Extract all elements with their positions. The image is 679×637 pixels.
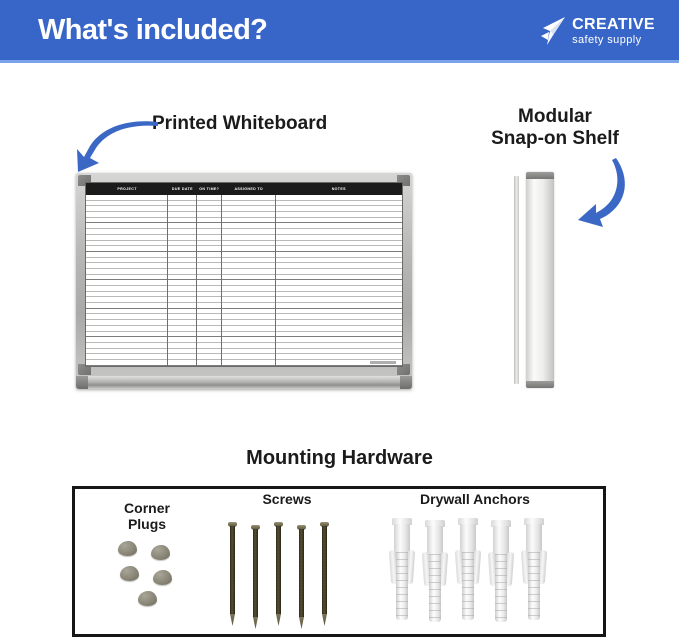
drywall-anchors-group [392, 518, 562, 630]
screw [320, 522, 329, 626]
printed-whiteboard: PROJECTDUE DATEON TIME?ASSIGNED TONOTES [76, 173, 412, 389]
screw-shaft [230, 526, 235, 614]
hardware-section-title: Mounting Hardware [0, 447, 679, 470]
brand-tagline: safety supply [572, 35, 655, 46]
drywall-anchor [458, 518, 478, 628]
whiteboard-column-header: NOTES [276, 183, 402, 194]
screw [251, 525, 260, 629]
anchor-neck [394, 524, 410, 554]
screw-shaft [322, 526, 327, 614]
anchor-body [528, 552, 540, 620]
shelf-back-rail [514, 176, 519, 384]
whiteboard-grid [86, 195, 402, 366]
anchor-body [495, 554, 507, 622]
corner-plug [151, 545, 170, 560]
screw [274, 522, 283, 626]
screw-tip [253, 617, 258, 629]
screw [297, 525, 306, 629]
screw [228, 522, 237, 626]
whiteboard-column-header: ON TIME? [197, 183, 222, 194]
corner-plug [120, 566, 139, 581]
screw-tip [322, 614, 327, 626]
screw-tip [230, 614, 235, 626]
anchor-body [429, 554, 441, 622]
paper-plane-icon [540, 16, 566, 46]
screw-shaft [276, 526, 281, 614]
corner-plugs-group [118, 541, 182, 607]
whiteboard-column-separator [276, 195, 402, 366]
callout-label-printed-whiteboard: Printed Whiteboard [152, 113, 327, 135]
whiteboard-column-header: PROJECT [86, 183, 168, 194]
brand-wordmark: CREATIVE safety supply [572, 17, 655, 46]
anchor-neck [460, 524, 476, 554]
drywall-anchor [491, 520, 511, 630]
drywall-anchor [392, 518, 412, 628]
whiteboard-column-separator [197, 195, 222, 366]
brand-name: CREATIVE [572, 17, 655, 33]
screws-group [228, 522, 340, 630]
whiteboard-column-separators [86, 195, 402, 366]
hardware-label-drywall-anchors: Drywall Anchors [390, 491, 560, 507]
tray-end-cap [76, 376, 88, 389]
callout-label-modular-snap-on-shelf: Modular Snap-on Shelf [455, 106, 655, 150]
header-accent-divider [0, 60, 679, 63]
page-title: What's included? [38, 14, 267, 47]
hardware-label-corner-plugs: Corner Plugs [102, 500, 192, 532]
anchor-neck [493, 526, 509, 556]
tray-end-cap [400, 376, 412, 389]
anchor-body [462, 552, 474, 620]
whiteboard-column-header: ASSIGNED TO [222, 183, 276, 194]
drywall-anchor [524, 518, 544, 628]
shelf-front-panel [526, 172, 554, 388]
corner-plug [153, 570, 172, 585]
screw-shaft [299, 529, 304, 617]
screw-tip [276, 614, 281, 626]
anchor-neck [427, 526, 443, 556]
corner-plug [118, 541, 137, 556]
shelf-end-cap [526, 172, 554, 179]
whiteboard-surface: PROJECTDUE DATEON TIME?ASSIGNED TONOTES [85, 182, 403, 367]
whiteboard-column-header-row: PROJECTDUE DATEON TIME?ASSIGNED TONOTES [86, 183, 402, 195]
screw-shaft [253, 529, 258, 617]
hardware-label-screws: Screws [232, 491, 342, 507]
shelf-end-cap [526, 381, 554, 388]
curved-arrow-down-left-icon [68, 116, 162, 176]
whiteboard-marker-tray [76, 376, 412, 389]
whiteboard-column-separator [86, 195, 168, 366]
modular-snap-on-shelf [508, 172, 576, 388]
whiteboard-footer-mark [370, 361, 396, 364]
brand-logo: CREATIVE safety supply [540, 14, 655, 48]
drywall-anchor [425, 520, 445, 630]
corner-plug [138, 591, 157, 606]
anchor-neck [526, 524, 542, 554]
screw-tip [299, 617, 304, 629]
anchor-body [396, 552, 408, 620]
whiteboard-column-separator [168, 195, 196, 366]
whiteboard-column-header: DUE DATE [168, 183, 196, 194]
whiteboard-column-separator [222, 195, 276, 366]
